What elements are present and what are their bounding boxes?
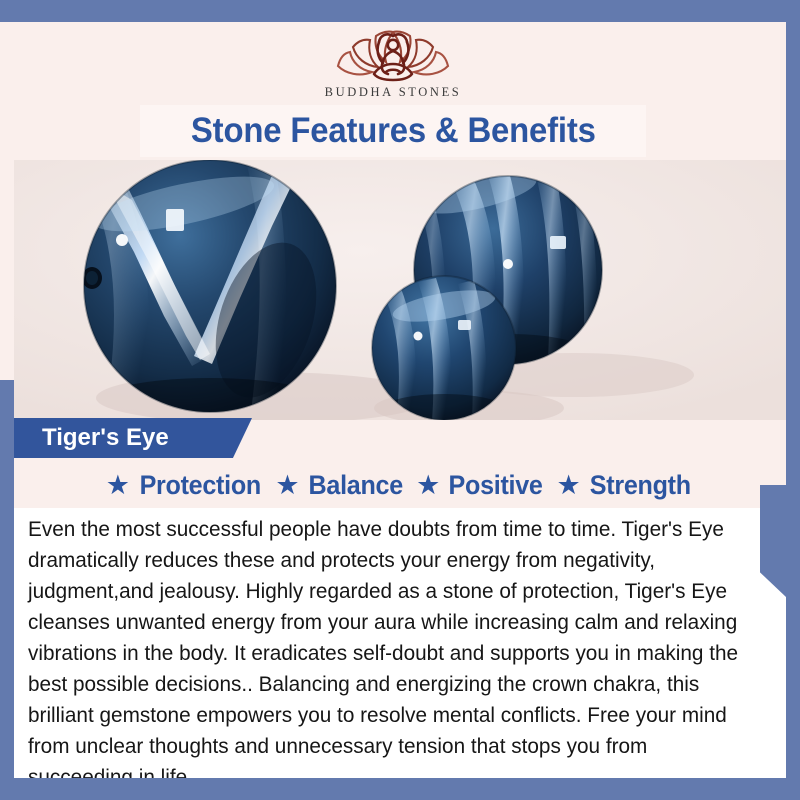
benefit-label: Protection <box>139 470 260 501</box>
benefit-item-positive: ★ Positive <box>416 470 546 501</box>
star-icon: ★ <box>275 472 299 499</box>
frame-bottom-bar <box>0 778 800 800</box>
frame-left-bar <box>0 380 14 778</box>
star-icon: ★ <box>416 472 440 499</box>
title-band: Stone Features & Benefits <box>140 105 646 157</box>
poster-root: BUDDHA STONES Stone Features & Benefits … <box>0 0 800 800</box>
benefit-item-balance: ★ Balance <box>275 470 406 501</box>
brand-name: BUDDHA STONES <box>325 85 462 100</box>
frame-top-bar <box>0 0 800 22</box>
benefit-item-protection: ★ Protection <box>106 470 266 501</box>
star-icon: ★ <box>106 472 130 499</box>
description-block: Even the most successful people have dou… <box>14 508 786 778</box>
brand-logo: BUDDHA STONES <box>0 22 786 108</box>
benefit-label: Strength <box>590 470 691 501</box>
tigers-eye-spheres-illustration <box>14 160 786 420</box>
star-icon: ★ <box>556 472 580 499</box>
gemstone-photo <box>14 160 786 420</box>
page-title: Stone Features & Benefits <box>191 111 596 151</box>
benefits-row: ★ Protection ★ Balance ★ Positive ★ Stre… <box>14 466 786 504</box>
stone-name-label: Tiger's Eye <box>42 424 169 452</box>
description-text: Even the most successful people have dou… <box>28 514 746 793</box>
frame-right-bar <box>786 0 800 800</box>
benefit-label: Positive <box>449 470 543 501</box>
benefit-label: Balance <box>308 470 402 501</box>
benefit-item-strength: ★ Strength <box>556 470 694 501</box>
lotus-meditation-icon <box>328 22 458 84</box>
stone-name-ribbon: Tiger's Eye <box>14 418 252 458</box>
